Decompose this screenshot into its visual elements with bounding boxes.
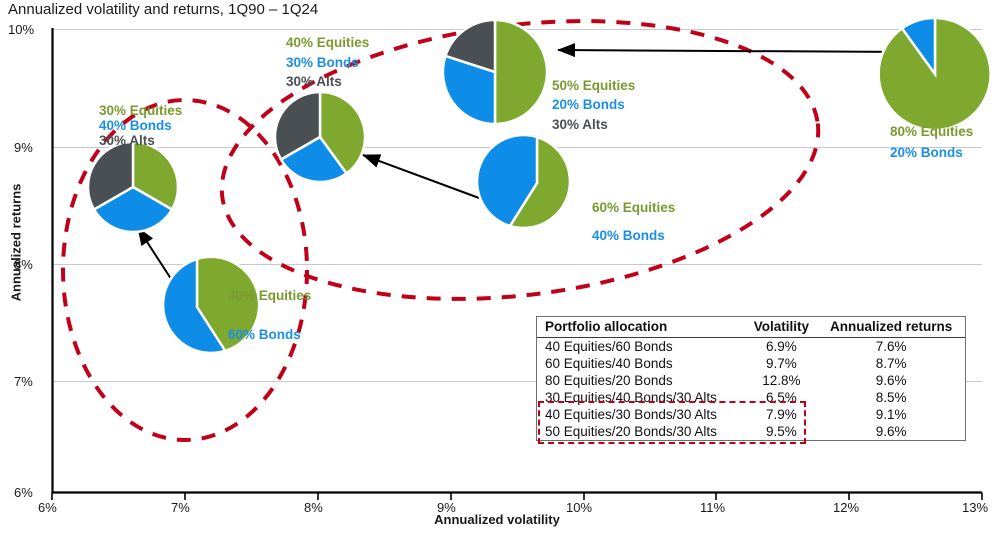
table-cell: 60 Equities/40 Bonds [537, 355, 746, 372]
table-cell: 9.6% [817, 372, 965, 389]
pie-label-60-40-bonds: 40% Bonds [592, 228, 665, 244]
table-cell: 7.6% [817, 338, 965, 356]
table-row: 30 Equities/40 Bonds/30 Alts6.5%8.5% [537, 389, 965, 406]
pie-label-50-20-30-bonds: 20% Bonds [552, 97, 625, 113]
pie-label-30-40-30-alts: 30% Alts [99, 133, 155, 149]
pie-label-80-20-equities: 80% Equities [890, 124, 973, 140]
plot-area [0, 0, 994, 537]
pie-label-40-60-equities: 40% Equities [228, 288, 311, 304]
pie-50-20-30[interactable] [443, 20, 547, 124]
chart-canvas: Annualized volatility and returns, 1Q90 … [0, 0, 994, 537]
table-cell: 8.7% [817, 355, 965, 372]
table-cell: 8.5% [817, 389, 965, 406]
table-row: 40 Equities/30 Bonds/30 Alts7.9%9.1% [537, 406, 965, 423]
pie-label-50-20-30-equities: 50% Equities [552, 78, 635, 94]
table-cell: 7.9% [746, 406, 818, 423]
arrow-80-20-to-50-20-30 [558, 50, 903, 52]
pie-label-40-30-30-alts: 30% Alts [286, 74, 342, 90]
pie-60-40[interactable] [477, 135, 570, 228]
table-row: 40 Equities/60 Bonds6.9%7.6% [537, 338, 965, 356]
pie-label-60-40-equities: 60% Equities [592, 200, 675, 216]
pie-label-50-20-30-alts: 30% Alts [552, 117, 608, 133]
arrow-40-60-to-30-40-30 [138, 228, 175, 285]
y-tick-6: 6% [14, 485, 33, 500]
th-portfolio-allocation: Portfolio allocation [537, 317, 746, 338]
portfolio-allocation-table: Portfolio allocation Volatility Annualiz… [536, 316, 966, 441]
table-cell: 6.5% [746, 389, 818, 406]
table-cell: 40 Equities/30 Bonds/30 Alts [537, 406, 746, 423]
table-header-row: Portfolio allocation Volatility Annualiz… [537, 317, 965, 338]
table-row: 50 Equities/20 Bonds/30 Alts9.5%9.6% [537, 423, 965, 440]
y-tick-7: 7% [14, 374, 33, 389]
table-cell: 9.1% [817, 406, 965, 423]
y-tick-10: 10% [8, 22, 34, 37]
table-row: 80 Equities/20 Bonds12.8%9.6% [537, 372, 965, 389]
pie-label-40-30-30-bonds: 30% Bonds [286, 55, 359, 71]
x-axis-title: Annualized volatility [0, 512, 994, 527]
pie-label-80-20-bonds: 20% Bonds [890, 145, 963, 161]
th-volatility: Volatility [746, 317, 818, 338]
y-tick-9: 9% [14, 140, 33, 155]
pie-label-40-60-bonds: 60% Bonds [228, 327, 301, 343]
pie-label-40-30-30-equities: 40% Equities [286, 35, 369, 51]
th-annualized-returns: Annualized returns [817, 317, 965, 338]
table-cell: 30 Equities/40 Bonds/30 Alts [537, 389, 746, 406]
table-cell: 9.6% [817, 423, 965, 440]
table-cell: 40 Equities/60 Bonds [537, 338, 746, 356]
table-cell: 9.7% [746, 355, 818, 372]
pie-30-40-30[interactable] [88, 142, 178, 232]
table-cell: 9.5% [746, 423, 818, 440]
y-axis-title: Annualized returns [9, 173, 24, 313]
pie-label-30-40-30-bonds: 40% Bonds [99, 118, 172, 134]
pie-40-30-30[interactable] [275, 92, 365, 182]
pie-80-20[interactable] [879, 18, 991, 130]
pie-label-30-40-30-equities: 30% Equities [99, 103, 182, 119]
table-cell: 80 Equities/20 Bonds [537, 372, 746, 389]
table-cell: 50 Equities/20 Bonds/30 Alts [537, 423, 746, 440]
table-cell: 12.8% [746, 372, 818, 389]
axis-ticks [52, 493, 982, 501]
table-row: 60 Equities/40 Bonds9.7%8.7% [537, 355, 965, 372]
table-cell: 6.9% [746, 338, 818, 356]
